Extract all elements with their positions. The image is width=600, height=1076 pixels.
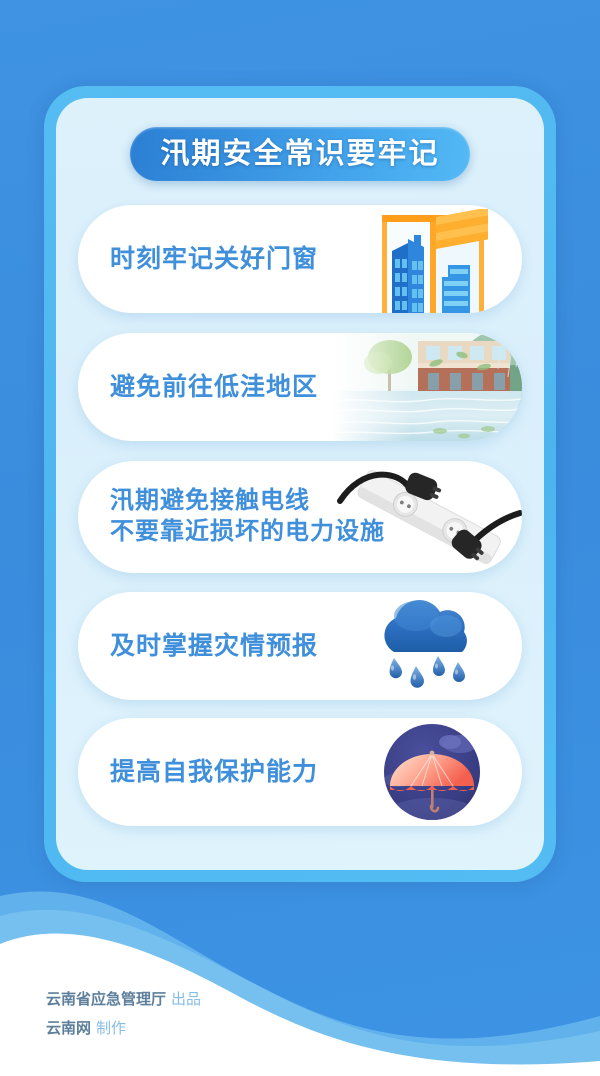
footer-credits: 云南省应急管理厅出品 云南网制作 (46, 985, 201, 1044)
tip-item-3-label: 汛期避免接触电线不要靠近损坏的电力设施 (78, 486, 385, 547)
tip-item-5: 提高自我保护能力 (78, 718, 522, 826)
window-buildings-icon (332, 205, 522, 313)
footer-line-2-main: 云南网 (46, 1020, 91, 1037)
rain-cloud-icon (332, 592, 522, 700)
footer-line-2: 云南网制作 (46, 1014, 201, 1043)
page-title: 汛期安全常识要牢记 (160, 140, 439, 169)
tip-item-1-label: 时刻牢记关好门窗 (78, 243, 318, 275)
poster-root: 汛期安全常识要牢记 时刻牢记关好门窗 (0, 0, 600, 1076)
footer-line-1-sub: 出品 (171, 991, 201, 1008)
tip-item-4-label: 及时掌握灾情预报 (78, 630, 318, 662)
footer-line-1: 云南省应急管理厅出品 (46, 985, 201, 1014)
tip-item-3-line1: 汛期避免接触电线 (110, 487, 310, 514)
flooded-street-icon (332, 333, 522, 441)
tip-item-5-label: 提高自我保护能力 (78, 756, 318, 788)
tip-item-1: 时刻牢记关好门窗 (78, 205, 522, 313)
umbrella-circle-icon (332, 718, 522, 826)
poster-title-pill: 汛期安全常识要牢记 (130, 127, 470, 181)
tip-item-4: 及时掌握灾情预报 (78, 592, 522, 700)
tip-item-3-line2: 不要靠近损坏的电力设施 (110, 518, 385, 545)
footer-line-1-main: 云南省应急管理厅 (46, 991, 166, 1008)
tip-item-3: 汛期避免接触电线不要靠近损坏的电力设施 (78, 461, 522, 573)
tip-item-2-label: 避免前往低洼地区 (78, 371, 318, 403)
tip-item-2: 避免前往低洼地区 (78, 333, 522, 441)
footer-line-2-sub: 制作 (96, 1020, 126, 1037)
